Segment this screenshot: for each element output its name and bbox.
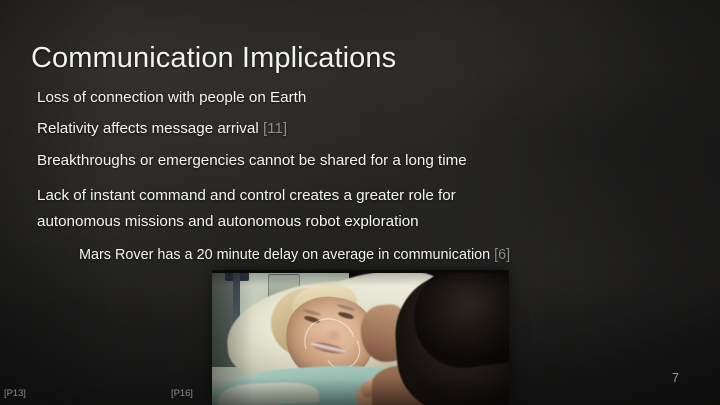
slide-title: Communication Implications [31, 41, 396, 75]
citation-marker: [6] [494, 247, 510, 263]
citation-marker: [11] [263, 120, 287, 137]
bullet-text: Breakthroughs or emergencies cannot be s… [37, 152, 467, 169]
source-tag-middle: [P16] [171, 387, 193, 398]
bullet-item-2: Relativity affects message arrival [11] [37, 119, 287, 139]
bullet-item-4-line-2: autonomous missions and autonomous robot… [37, 212, 419, 232]
presentation-slide: Communication Implications Loss of conne… [0, 0, 720, 405]
bullet-item-3: Breakthroughs or emergencies cannot be s… [37, 151, 467, 171]
bullet-item-1: Loss of connection with people on Earth [37, 88, 306, 108]
source-tag-left: [P13] [4, 387, 26, 398]
sub-bullet-item-1: Mars Rover has a 20 minute delay on aver… [79, 245, 510, 265]
slide-photo [212, 270, 509, 405]
bullet-text: Lack of instant command and control crea… [37, 187, 456, 204]
photo-letterbox [212, 270, 509, 273]
visitor-ear [396, 324, 420, 347]
slide-page-number: 7 [672, 371, 679, 385]
bullet-item-4-line-1: Lack of instant command and control crea… [37, 186, 456, 206]
photo-scene [212, 270, 509, 405]
bullet-text: Relativity affects message arrival [37, 120, 263, 137]
bullet-text: Loss of connection with people on Earth [37, 89, 306, 106]
bullet-text: autonomous missions and autonomous robot… [37, 213, 419, 230]
sub-bullet-text: Mars Rover has a 20 minute delay on aver… [79, 247, 494, 263]
